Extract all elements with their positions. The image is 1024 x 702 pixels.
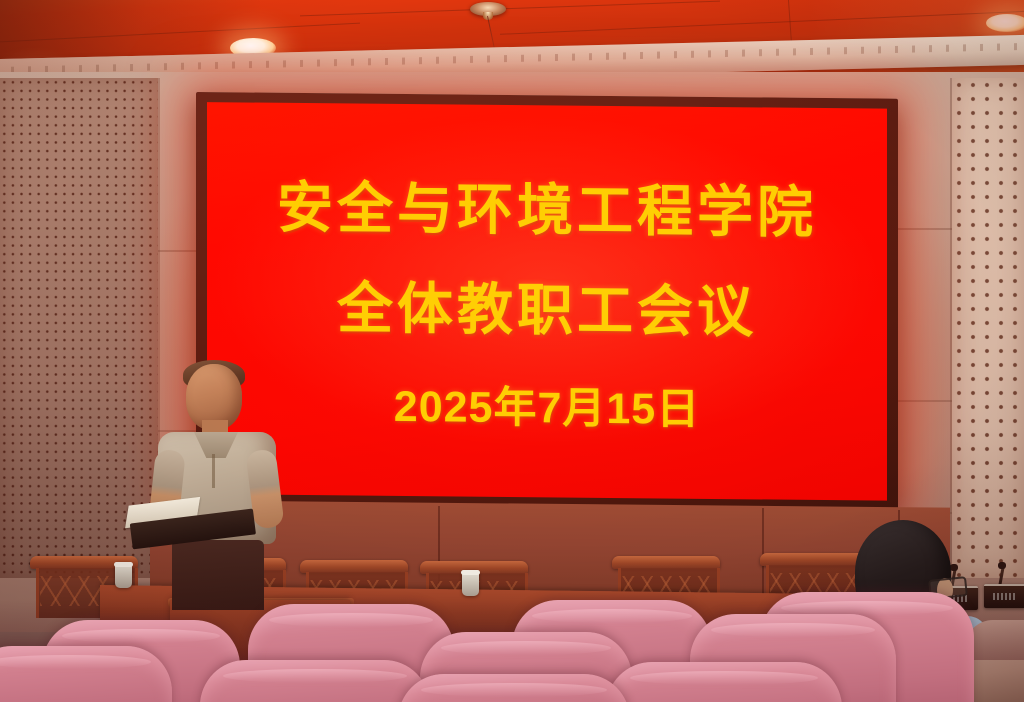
downlight-right-icon bbox=[986, 14, 1024, 32]
auditorium-seat bbox=[398, 674, 630, 702]
wall-seam-horizontal-2 bbox=[896, 400, 952, 402]
microphone-head-icon bbox=[998, 562, 1006, 569]
speaker-person bbox=[150, 358, 282, 608]
screen-title-line-2: 全体教职工会议 bbox=[207, 262, 887, 350]
acoustic-panel-right bbox=[952, 78, 1024, 578]
wall-seam-horizontal-left bbox=[158, 250, 198, 252]
sprinkler-head-icon bbox=[470, 2, 506, 16]
microphone-unit-label bbox=[993, 593, 1017, 600]
cup-lid bbox=[114, 562, 133, 567]
led-screen: 安全与环境工程学院 全体教职工会议 2025年7月15日 bbox=[207, 102, 887, 501]
water-cup bbox=[462, 570, 479, 596]
wall-seam-horizontal-1 bbox=[896, 228, 952, 230]
auditorium-seat bbox=[0, 646, 172, 702]
speaker-placket bbox=[212, 454, 215, 488]
acoustic-panel-left bbox=[0, 78, 158, 578]
auditorium-seat bbox=[200, 660, 430, 702]
water-cup bbox=[115, 562, 132, 588]
meeting-room-photo: 安全与环境工程学院 全体教职工会议 2025年7月15日 bbox=[0, 0, 1024, 702]
screen-date-line: 2025年7月15日 bbox=[207, 370, 887, 439]
screen-title-line-1: 安全与环境工程学院 bbox=[207, 162, 887, 250]
cup-lid bbox=[461, 570, 480, 575]
led-screen-frame: 安全与环境工程学院 全体教职工会议 2025年7月15日 bbox=[196, 92, 898, 511]
auditorium-seat bbox=[606, 662, 842, 702]
